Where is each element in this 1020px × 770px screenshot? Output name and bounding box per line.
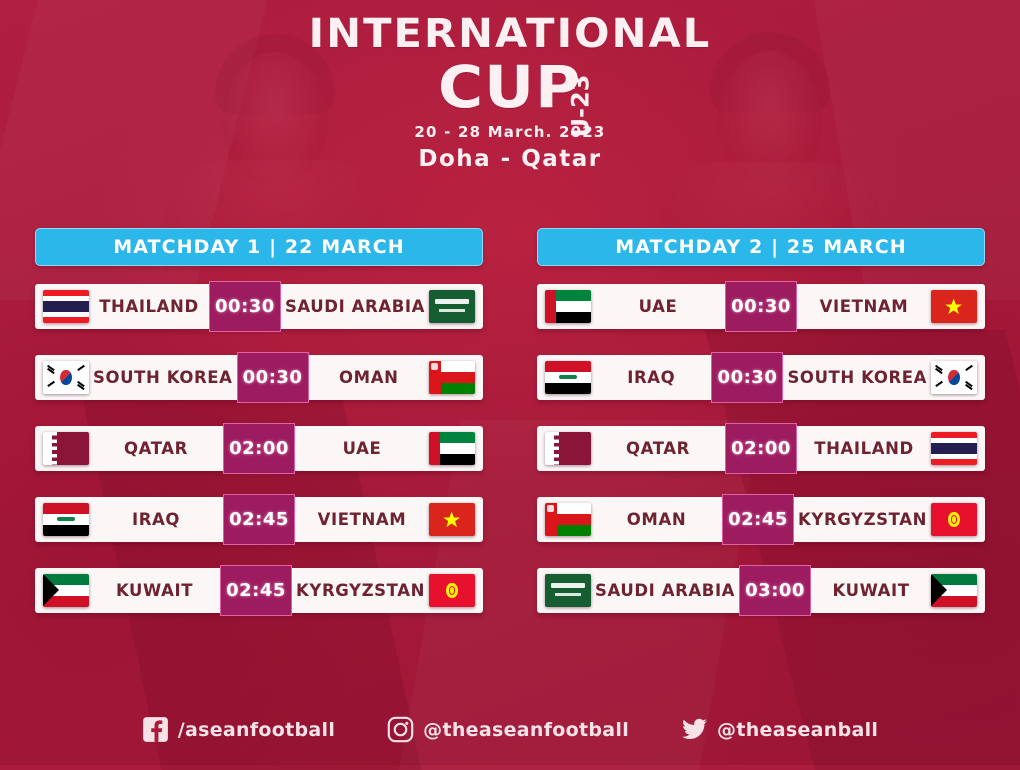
flag-icon-home bbox=[43, 574, 89, 607]
social-handle: /aseanfootball bbox=[178, 719, 335, 741]
home-team-name: QATAR bbox=[591, 426, 725, 471]
match-row[interactable]: IRAQ00:30SOUTH KOREA bbox=[537, 355, 985, 400]
flag-icon-away bbox=[931, 290, 977, 323]
match-row[interactable]: OMAN02:45KYRGYZSTAN bbox=[537, 497, 985, 542]
home-team-name: OMAN bbox=[591, 497, 722, 542]
social-link-instagram[interactable]: @theaseanfootball bbox=[387, 716, 629, 743]
flag-icon-away bbox=[429, 290, 475, 323]
match-row[interactable]: IRAQ02:45VIETNAM bbox=[35, 497, 483, 542]
event-dates: 20 - 28 March. 2023 bbox=[0, 123, 1020, 141]
home-team-name: QATAR bbox=[89, 426, 223, 471]
flag-icon-away bbox=[429, 503, 475, 536]
flag-icon-home bbox=[43, 503, 89, 536]
social-link-twitter[interactable]: @theaseanball bbox=[681, 716, 878, 743]
event-venue: Doha - Qatar bbox=[0, 146, 1020, 172]
flag-icon-away bbox=[931, 432, 977, 465]
flag-icon-home bbox=[545, 503, 591, 536]
flag-icon-home bbox=[545, 574, 591, 607]
home-team-name: SOUTH KOREA bbox=[89, 355, 237, 400]
match-time: 00:30 bbox=[725, 281, 797, 332]
matchday-header-2[interactable]: MATCHDAY 2 | 25 MARCH bbox=[537, 228, 985, 266]
away-team-name: SOUTH KOREA bbox=[783, 355, 931, 400]
match-list: THAILAND00:30SAUDI ARABIASOUTH KOREA00:3… bbox=[35, 284, 483, 613]
flag-icon-away bbox=[931, 574, 977, 607]
match-time: 00:30 bbox=[237, 352, 309, 403]
home-team-name: IRAQ bbox=[89, 497, 223, 542]
match-time: 02:00 bbox=[725, 423, 797, 474]
flag-icon-away bbox=[429, 432, 475, 465]
match-row[interactable]: QATAR02:00THAILAND bbox=[537, 426, 985, 471]
away-team-name: KUWAIT bbox=[811, 568, 931, 613]
matchday-header-1[interactable]: MATCHDAY 1 | 22 MARCH bbox=[35, 228, 483, 266]
away-team-name: SAUDI ARABIA bbox=[281, 284, 429, 329]
match-row[interactable]: UAE00:30VIETNAM bbox=[537, 284, 985, 329]
away-team-name: VIETNAM bbox=[797, 284, 931, 329]
home-team-name: KUWAIT bbox=[89, 568, 220, 613]
away-team-name: KYRGYZSTAN bbox=[794, 497, 931, 542]
title-cup-wrap: CUP U-23 bbox=[442, 58, 577, 116]
flag-icon-away bbox=[931, 361, 977, 394]
match-list: UAE00:30VIETNAMIRAQ00:30SOUTH KOREAQATAR… bbox=[537, 284, 985, 613]
flag-icon-home bbox=[43, 361, 89, 394]
poster-header: INTERNATIONAL CUP U-23 20 - 28 March. 20… bbox=[0, 14, 1020, 172]
facebook-icon bbox=[142, 716, 169, 743]
away-team-name: UAE bbox=[295, 426, 429, 471]
matchday-column-2: MATCHDAY 2 | 25 MARCHUAE00:30VIETNAMIRAQ… bbox=[537, 228, 985, 613]
match-time: 02:45 bbox=[722, 494, 794, 545]
match-time: 03:00 bbox=[739, 565, 811, 616]
social-link-facebook[interactable]: /aseanfootball bbox=[142, 716, 335, 743]
flag-icon-home bbox=[43, 290, 89, 323]
home-team-name: UAE bbox=[591, 284, 725, 329]
flag-icon-home bbox=[43, 432, 89, 465]
match-time: 02:00 bbox=[223, 423, 295, 474]
flag-icon-home bbox=[545, 432, 591, 465]
away-team-name: VIETNAM bbox=[295, 497, 429, 542]
social-handle: @theaseanfootball bbox=[423, 719, 629, 741]
match-row[interactable]: SAUDI ARABIA03:00KUWAIT bbox=[537, 568, 985, 613]
home-team-name: SAUDI ARABIA bbox=[591, 568, 739, 613]
match-time: 02:45 bbox=[223, 494, 295, 545]
title-u23-badge: U-23 bbox=[568, 75, 592, 138]
away-team-name: OMAN bbox=[309, 355, 429, 400]
flag-icon-away bbox=[429, 361, 475, 394]
flag-icon-away bbox=[429, 574, 475, 607]
matchday-columns: MATCHDAY 1 | 22 MARCHTHAILAND00:30SAUDI … bbox=[0, 228, 1020, 613]
flag-icon-away bbox=[931, 503, 977, 536]
match-row[interactable]: SOUTH KOREA00:30OMAN bbox=[35, 355, 483, 400]
footer-socials: /aseanfootball@theaseanfootball@theasean… bbox=[0, 716, 1020, 743]
instagram-icon bbox=[387, 716, 414, 743]
match-row[interactable]: KUWAIT02:45KYRGYZSTAN bbox=[35, 568, 483, 613]
away-team-name: KYRGYZSTAN bbox=[292, 568, 429, 613]
flag-icon-home bbox=[545, 290, 591, 323]
social-handle: @theaseanball bbox=[717, 719, 878, 741]
match-time: 00:30 bbox=[209, 281, 281, 332]
match-row[interactable]: QATAR02:00UAE bbox=[35, 426, 483, 471]
match-time: 02:45 bbox=[220, 565, 292, 616]
away-team-name: THAILAND bbox=[797, 426, 931, 471]
home-team-name: THAILAND bbox=[89, 284, 209, 329]
home-team-name: IRAQ bbox=[591, 355, 711, 400]
twitter-icon bbox=[681, 716, 708, 743]
flag-icon-home bbox=[545, 361, 591, 394]
match-row[interactable]: THAILAND00:30SAUDI ARABIA bbox=[35, 284, 483, 329]
matchday-column-1: MATCHDAY 1 | 22 MARCHTHAILAND00:30SAUDI … bbox=[35, 228, 483, 613]
match-time: 00:30 bbox=[711, 352, 783, 403]
title-international: INTERNATIONAL bbox=[0, 14, 1020, 54]
title-cup: CUP bbox=[438, 58, 581, 116]
